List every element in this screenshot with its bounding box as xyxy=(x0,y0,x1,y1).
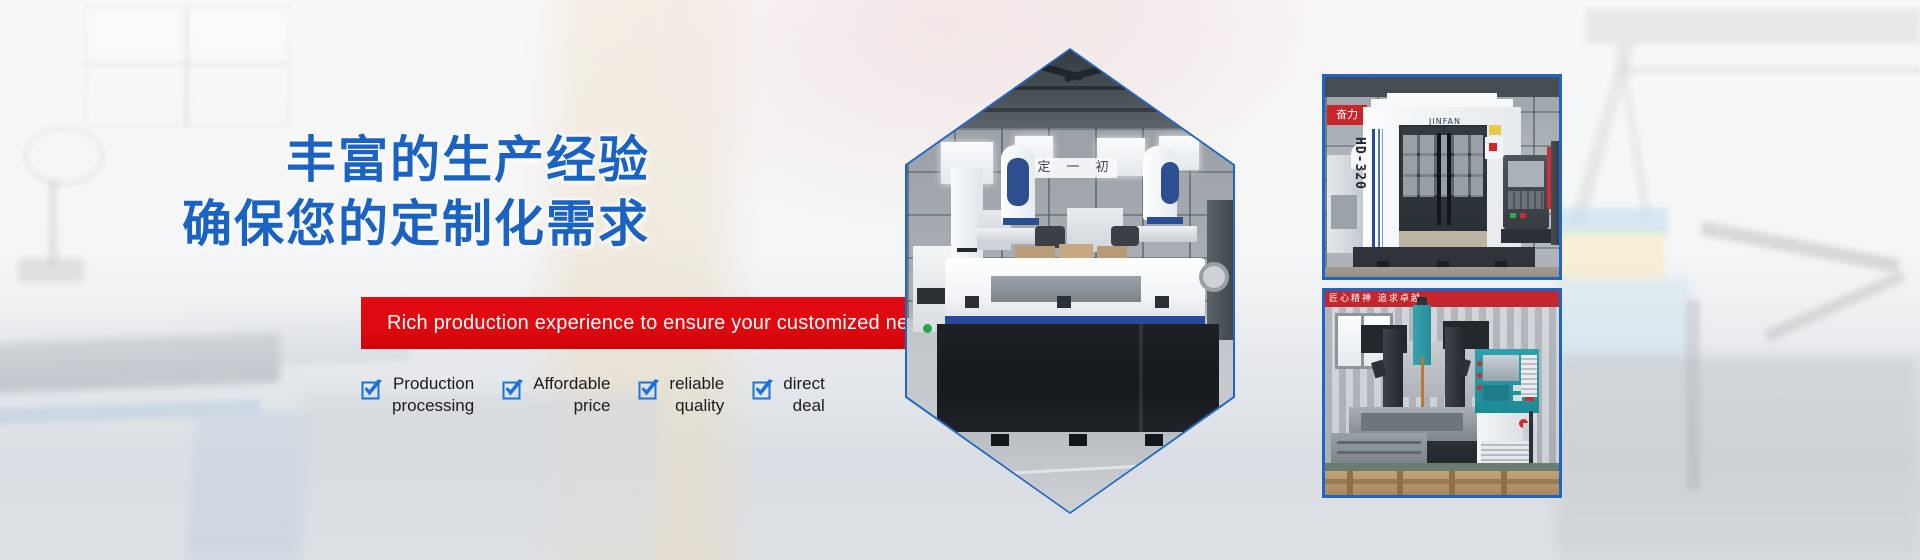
side-photo-bottom[interactable]: 匠心精神 追求卓越 xyxy=(1322,288,1562,498)
checkbox-checked-icon[interactable] xyxy=(361,378,383,400)
cnc-keypad xyxy=(1508,191,1544,209)
indicator-light-3 xyxy=(1477,385,1482,390)
checkbox-checked-icon[interactable] xyxy=(638,378,660,400)
feature-item[interactable]: direct deal xyxy=(752,372,825,417)
red-wall-banner-text: 奋力 xyxy=(1327,105,1367,125)
sliding-table-slot-2 xyxy=(1337,451,1421,454)
spindle-head-left-panel xyxy=(1007,158,1029,206)
feature-label-line-1: reliable xyxy=(669,373,724,395)
checkbox-checked-icon[interactable] xyxy=(752,378,774,400)
banner-copy-block: 丰富的生产经验 确保您的定制化需求 Rich production experi… xyxy=(0,0,905,560)
emergency-stop-button xyxy=(1489,143,1497,151)
machine-model-label: HD-320 xyxy=(1349,137,1367,213)
feature-item[interactable]: Production processing xyxy=(361,372,474,417)
warning-label-yellow xyxy=(1489,125,1501,135)
feature-label-line-1: Production xyxy=(392,373,474,395)
green-start-button xyxy=(923,324,932,333)
feature-list: Production processing Affordable price xyxy=(361,372,901,430)
coil-reel xyxy=(1199,262,1229,292)
subtitle-bar-text: Rich production experience to ensure you… xyxy=(361,312,941,335)
promo-banner: 丰富的生产经验 确保您的定制化需求 Rich production experi… xyxy=(0,0,1920,560)
feature-item[interactable]: Affordable price xyxy=(502,372,610,417)
workshop-floor xyxy=(1325,267,1559,280)
workshop-roof xyxy=(907,50,1233,140)
control-cabinet-screen xyxy=(1483,355,1519,381)
cabinet-cable xyxy=(1529,411,1533,467)
machine-door-handle-left xyxy=(1437,133,1441,225)
subtitle-bar: Rich production experience to ensure you… xyxy=(361,297,905,349)
cabinet-vent-upper xyxy=(1521,355,1537,397)
pallet-slat-1 xyxy=(1347,471,1353,495)
feature-label-line-2: deal xyxy=(783,395,825,417)
checkbox-checked-icon[interactable] xyxy=(502,378,524,400)
sliding-table-slot-1 xyxy=(1337,441,1421,444)
cnc-pendant-arm xyxy=(1501,229,1553,243)
pallet-slat-3 xyxy=(1449,471,1455,495)
edm-ram-head xyxy=(1413,305,1431,365)
machine-foot-1 xyxy=(991,434,1009,446)
feature-item[interactable]: reliable quality xyxy=(638,372,724,417)
indicator-light-2 xyxy=(1477,373,1482,378)
table-fixture-3 xyxy=(1155,296,1169,308)
control-cabinet-keypad xyxy=(1483,385,1509,401)
feature-label-line-1: direct xyxy=(783,373,825,395)
feature-label-line-1: Affordable xyxy=(533,373,610,395)
spindle-head-right-panel xyxy=(1161,162,1179,204)
hexagon-photo-image: 定 一 初 xyxy=(907,50,1233,512)
cnc-green-button xyxy=(1510,213,1516,218)
headline-line-2: 确保您的定制化需求 xyxy=(182,192,650,256)
adjacent-machine-right xyxy=(1551,141,1562,245)
hexagon-photo[interactable]: 定 一 初 xyxy=(905,48,1235,514)
feature-label: Production processing xyxy=(392,372,474,417)
indicator-light-1 xyxy=(1477,361,1482,366)
spindle-head-left-base xyxy=(1003,218,1039,225)
machine-plinth xyxy=(1399,231,1487,247)
sliding-table xyxy=(1331,433,1427,465)
cnc-screen xyxy=(1508,161,1544,187)
work-tank-interior xyxy=(1361,413,1463,431)
feature-label-line-2: price xyxy=(533,395,610,417)
machine-blue-accent-stripe xyxy=(945,316,1205,324)
headline: 丰富的生产经验 确保您的定制化需求 xyxy=(182,128,650,256)
pallet-slat-4 xyxy=(1501,471,1507,495)
machine-column-slot-1 xyxy=(957,248,977,252)
machine-stripe-3 xyxy=(1382,129,1383,247)
machine-stripe-2 xyxy=(1378,129,1380,247)
machine-foot-3 xyxy=(1145,434,1163,446)
machine-dark-base xyxy=(937,324,1219,436)
side-photo-top[interactable]: 奋力 JINFAN HD-320 xyxy=(1322,74,1562,280)
cnc-red-button xyxy=(1520,213,1526,218)
pallet-slat-2 xyxy=(1397,471,1403,495)
gantry-column-left xyxy=(1383,329,1403,411)
feature-label: reliable quality xyxy=(669,372,724,417)
workshop-wall-sign-text: 定 一 初 xyxy=(1035,158,1117,178)
roof-purlin-2 xyxy=(907,108,1233,112)
feature-label-line-2: quality xyxy=(669,395,724,417)
headline-line-1: 丰富的生产经验 xyxy=(286,132,650,188)
machine-door-window xyxy=(1403,135,1483,197)
side-photo-stack: 奋力 JINFAN HD-320 xyxy=(1322,74,1562,498)
pallet-top-board xyxy=(1325,479,1559,484)
machine-stripe-1 xyxy=(1372,129,1375,247)
machine-foot-2 xyxy=(1069,434,1087,446)
table-fixture-2 xyxy=(1057,296,1071,308)
feature-label: Affordable price xyxy=(533,372,610,417)
machine-door-handle-right xyxy=(1447,133,1451,225)
roof-purlin-1 xyxy=(907,86,1233,90)
feature-label-line-2: processing xyxy=(392,395,474,417)
spindle-head-right-base xyxy=(1147,217,1183,224)
machine-base-seam xyxy=(1139,324,1143,436)
table-fixture-1 xyxy=(965,296,979,308)
spindle-motor-right xyxy=(1111,226,1139,246)
feature-label: direct deal xyxy=(783,372,825,417)
red-wall-banner-text: 匠心精神 追求卓越 xyxy=(1329,291,1489,307)
